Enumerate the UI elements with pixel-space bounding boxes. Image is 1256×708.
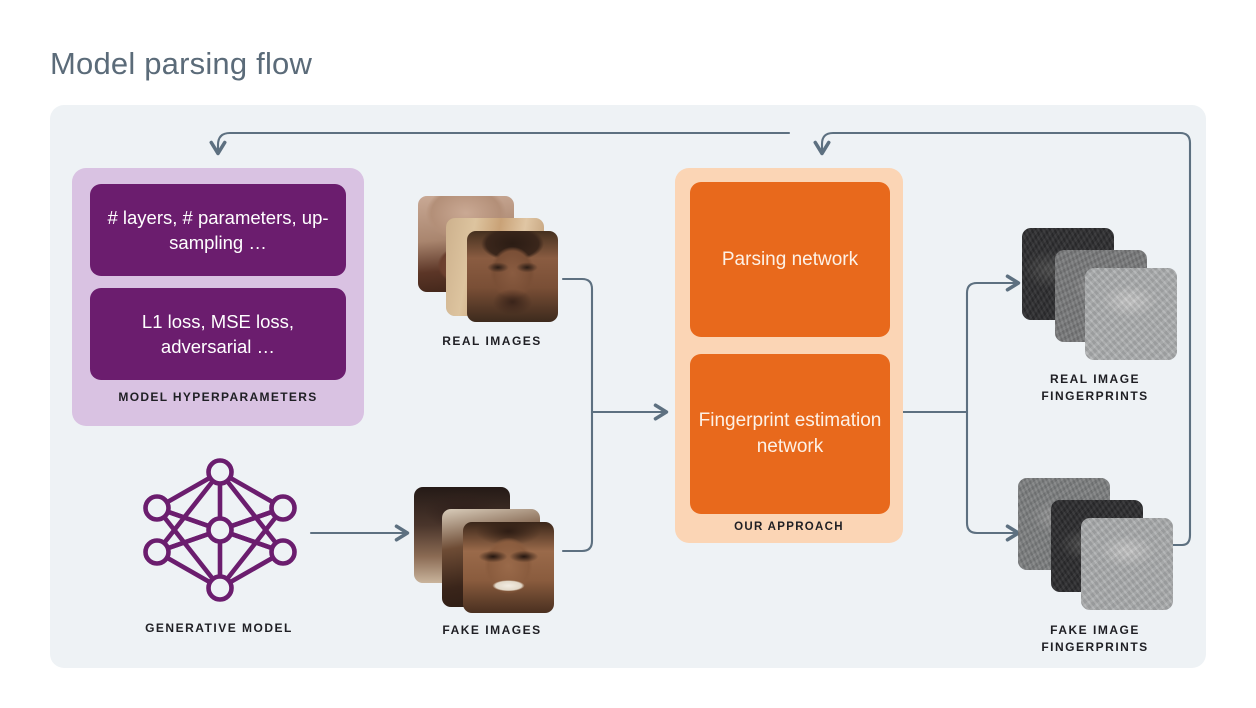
our-approach-caption: OUR APPROACH xyxy=(675,521,903,533)
real-images-caption: REAL IMAGES xyxy=(402,333,582,350)
page-title: Model parsing flow xyxy=(50,46,312,82)
real-images-stack[interactable] xyxy=(418,196,570,322)
neural-network-icon xyxy=(140,455,300,605)
fake-fingerprint-thumb-front xyxy=(1081,518,1173,610)
our-approach-group: Parsing network Fingerprint estimation n… xyxy=(675,168,903,543)
model-hyperparameters-group: # layers, # parameters, up-sampling … L1… xyxy=(72,168,364,426)
real-image-fingerprints-caption: REAL IMAGE FINGERPRINTS xyxy=(1002,371,1188,405)
fake-images-stack[interactable] xyxy=(414,487,566,613)
fake-images-caption: FAKE IMAGES xyxy=(402,622,582,639)
fake-image-fingerprints-caption: FAKE IMAGE FINGERPRINTS xyxy=(1002,622,1188,656)
fake-image-fingerprints-stack[interactable] xyxy=(1018,478,1178,608)
real-fingerprint-thumb-front xyxy=(1085,268,1177,360)
hyperparameter-box-loss[interactable]: L1 loss, MSE loss, adversarial … xyxy=(90,288,346,380)
hyperparameter-box-architecture[interactable]: # layers, # parameters, up-sampling … xyxy=(90,184,346,276)
parsing-network-box[interactable]: Parsing network xyxy=(690,182,890,337)
real-image-fingerprints-stack[interactable] xyxy=(1022,228,1182,358)
fake-image-thumb-front xyxy=(463,522,554,613)
real-image-thumb-front xyxy=(467,231,558,322)
generative-model-caption: GENERATIVE MODEL xyxy=(90,621,348,635)
fingerprint-estimation-network-box[interactable]: Fingerprint estimation network xyxy=(690,354,890,514)
generative-model-icon xyxy=(140,455,300,605)
model-hyperparameters-caption: MODEL HYPERPARAMETERS xyxy=(72,390,364,404)
